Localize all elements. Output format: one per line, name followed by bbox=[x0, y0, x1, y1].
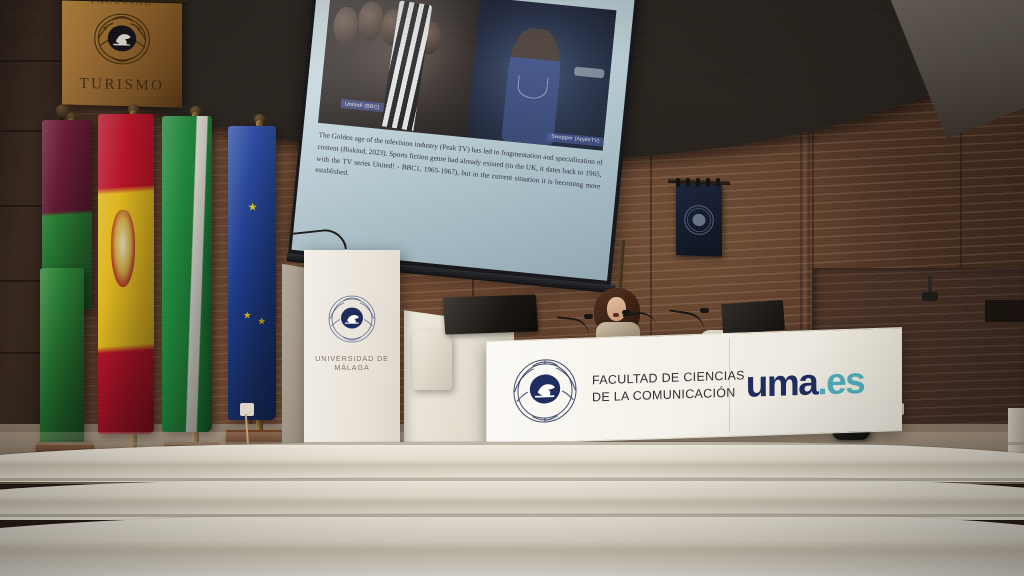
microphone bbox=[556, 312, 596, 338]
power-outlet-icon bbox=[240, 403, 254, 416]
uma-seal-icon bbox=[327, 294, 377, 344]
banner-bottom-text: TURISMO bbox=[62, 75, 182, 95]
microphone bbox=[668, 308, 714, 334]
slide-photo-left: United! (BBC) bbox=[318, 0, 479, 137]
flag-spain bbox=[98, 114, 154, 434]
slide-caption-left: United! (BBC) bbox=[341, 99, 384, 112]
uma-seal-icon bbox=[91, 7, 153, 71]
slide-caption-right: Swagger (AppleTV) bbox=[547, 132, 604, 146]
uma-navy-pennant bbox=[676, 183, 722, 257]
presenter-mouth bbox=[613, 313, 619, 317]
faculty-turismo-banner: FACULTAD TURISMO bbox=[62, 0, 182, 108]
wall-cabinet bbox=[1008, 408, 1024, 454]
faculty-line-2: DE LA COMUNICACIÓN bbox=[592, 384, 745, 406]
banner-finial bbox=[56, 104, 69, 117]
uma-logo-tld: es bbox=[826, 360, 864, 402]
wall-dark-slot bbox=[985, 300, 1024, 322]
slide-photo-strip: United! (BBC) Swagger (AppleTV) bbox=[318, 0, 616, 151]
slide-photo-right: Swagger (AppleTV) bbox=[466, 0, 616, 151]
uma-es-logo: uma.es bbox=[746, 362, 865, 403]
lectern-institution-label: UNIVERSIDAD DE MÁLAGA bbox=[304, 354, 400, 372]
auditorium-photo: FACULTAD TURISMO bbox=[0, 0, 1024, 576]
microphone bbox=[624, 306, 664, 332]
chair bbox=[412, 330, 452, 390]
stage-step bbox=[0, 514, 1024, 576]
uma-logo-main: uma bbox=[746, 361, 818, 404]
uma-seal-icon bbox=[512, 357, 578, 425]
flag-andalusia bbox=[162, 116, 212, 432]
flag-eu bbox=[228, 126, 276, 420]
ceiling-mount-fixture bbox=[922, 292, 938, 301]
table-monitor bbox=[443, 294, 539, 334]
background-blur bbox=[574, 66, 605, 79]
uma-seal-icon bbox=[682, 202, 716, 237]
faculty-front-banner: FACULTAD DE CIENCIAS DE LA COMUNICACIÓN … bbox=[486, 327, 902, 445]
stage-step bbox=[0, 442, 1024, 482]
table-monitor bbox=[721, 300, 785, 334]
faculty-name: FACULTAD DE CIENCIAS DE LA COMUNICACIÓN bbox=[592, 367, 745, 406]
